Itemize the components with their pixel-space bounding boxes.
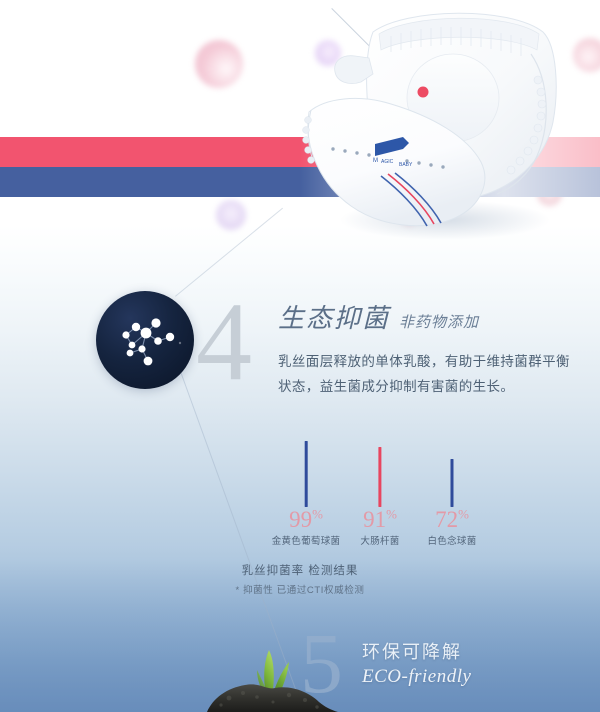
marker-dot (418, 87, 429, 98)
chart-bar-value: 91% (360, 507, 399, 532)
molecule-icon (96, 291, 194, 389)
chart-footnote: * 抑菌性 已通过CTI权威检测 (0, 582, 600, 596)
bar-track (427, 435, 476, 507)
chart-title: 乳丝抑菌率 检测结果 (0, 562, 600, 578)
svg-text:BABY: BABY (399, 162, 413, 168)
chart-bar (378, 447, 381, 507)
headline-sub-text: 非药物添加 (399, 311, 479, 332)
section-number: 4 (196, 286, 252, 398)
promo-page: M AGIC BABY (0, 0, 600, 712)
chart-bar-unit: % (312, 506, 323, 521)
bar-track (272, 435, 341, 507)
product-image-diaper: M AGIC BABY (295, 0, 600, 244)
chart-bar-group: 91%大肠杆菌 (360, 435, 399, 547)
chart-bar (450, 459, 453, 507)
svg-text:M: M (373, 158, 378, 164)
chart-bar (304, 441, 307, 506)
chart-bar-unit: % (386, 506, 397, 521)
antibacterial-bar-chart: 99%金黄色葡萄球菌91%大肠杆菌72%白色念球菌 (270, 432, 500, 547)
chart-bar-label: 白色念球菌 (427, 533, 476, 547)
chart-bar-unit: % (458, 506, 469, 521)
section-body-text: 乳丝面层释放的单体乳酸，有助于维持菌群平衡状态，益生菌成分抑制有害菌的生长。 (278, 350, 578, 399)
section-headline: 生态抑菌 非药物添加 (278, 298, 479, 335)
chart-bar-group: 72%白色念球菌 (427, 435, 476, 547)
eco-title-en: ECO-friendly (362, 664, 471, 691)
chart-bar-label: 金黄色葡萄球菌 (272, 533, 341, 547)
chart-bar-value: 72% (427, 507, 476, 532)
chart-bar-value: 99% (272, 507, 341, 532)
eco-section: 环保可降解 ECO-friendly (362, 640, 471, 691)
chart-bar-label: 大肠杆菌 (360, 533, 399, 547)
svg-text:AGIC: AGIC (381, 159, 394, 165)
decorative-circle-pink (195, 40, 243, 88)
eco-section-number: 5 (300, 620, 343, 706)
headline-main-text: 生态抑菌 (278, 298, 390, 335)
chart-bar-group: 99%金黄色葡萄球菌 (272, 435, 341, 547)
bar-track (360, 435, 399, 507)
eco-title-cn: 环保可降解 (362, 640, 471, 664)
decorative-circle-lilac (216, 200, 246, 230)
